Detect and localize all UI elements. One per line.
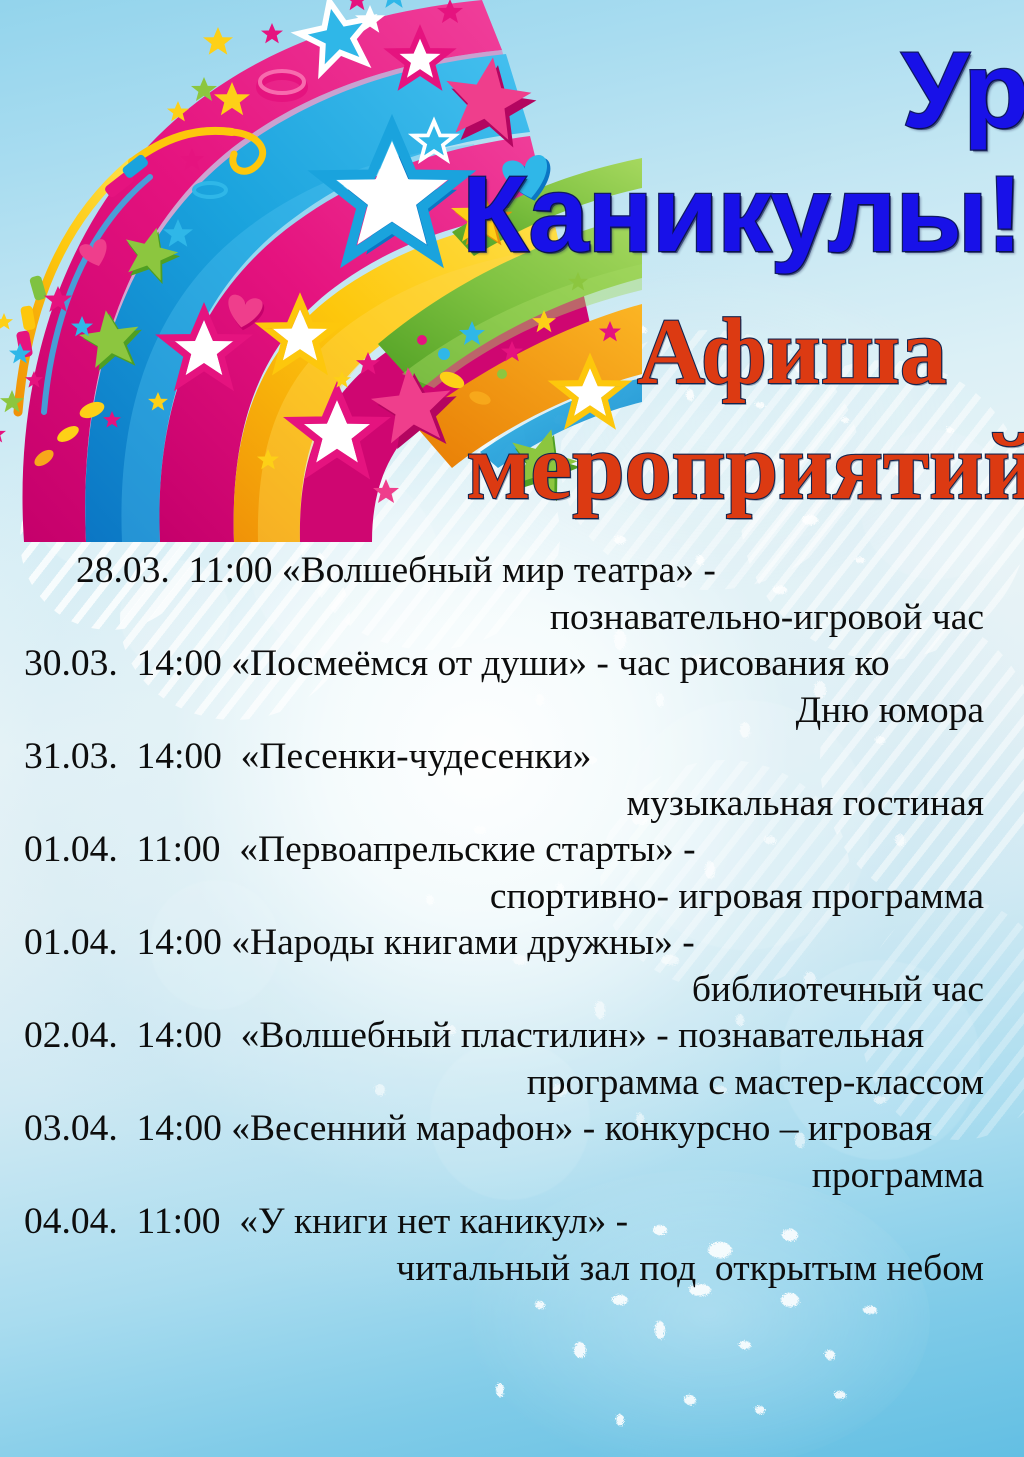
event-primary-line: 03.04. 14:00 «Весенний марафон» - конкур… xyxy=(24,1106,984,1153)
event-continued-line: читальный зал под открытым небом xyxy=(24,1246,984,1293)
title-text-holidays: Каникулы! xyxy=(462,160,1021,268)
event-primary-line: 31.03. 14:00 «Песенки-чудесенки» xyxy=(24,734,984,781)
event-item: 31.03. 14:00 «Песенки-чудесенки» музыкал… xyxy=(24,734,984,827)
event-continued-line: программа с мастер-классом xyxy=(24,1060,984,1107)
event-continued-line: программа xyxy=(24,1153,984,1200)
event-primary-line: 28.03. 11:00 «Волшебный мир театра» - xyxy=(24,548,984,595)
event-item: 02.04. 14:00 «Волшебный пластилин» - поз… xyxy=(24,1013,984,1106)
event-item: 03.04. 14:00 «Весенний марафон» - конкур… xyxy=(24,1106,984,1199)
event-primary-line: 02.04. 14:00 «Волшебный пластилин» - поз… xyxy=(24,1013,984,1060)
event-item: 01.04. 14:00 «Народы книгами дружны» - б… xyxy=(24,920,984,1013)
event-item: 30.03. 14:00 «Посмеёмся от души» - час р… xyxy=(24,641,984,734)
event-item: 04.04. 11:00 «У книги нет каникул» - чит… xyxy=(24,1199,984,1292)
title-text-hooray: Ура! xyxy=(901,36,1024,144)
event-primary-line: 01.04. 14:00 «Народы книгами дружны» - xyxy=(24,920,984,967)
event-schedule-list: 28.03. 11:00 «Волшебный мир театра» - по… xyxy=(24,548,984,1292)
event-item: 28.03. 11:00 «Волшебный мир театра» - по… xyxy=(24,548,984,641)
event-continued-line: Дню юмора xyxy=(24,688,984,735)
event-continued-line: музыкальная гостиная xyxy=(24,781,984,828)
poster-subtitle-line2: мероприятий xyxy=(0,420,1024,514)
event-primary-line: 30.03. 14:00 «Посмеёмся от души» - час р… xyxy=(24,641,984,688)
event-primary-line: 04.04. 11:00 «У книги нет каникул» - xyxy=(24,1199,984,1246)
subtitle-text-afisha: Афиша xyxy=(637,305,947,399)
event-primary-line: 01.04. 11:00 «Первоапрельские старты» - xyxy=(24,827,984,874)
poster-canvas: Ура! Каникулы! Афиша мероприятий 28.03. … xyxy=(0,0,1024,1457)
poster-title-line2: Каникулы! xyxy=(0,160,1024,268)
event-continued-line: библиотечный час xyxy=(24,967,984,1014)
event-continued-line: спортивно- игровая программа xyxy=(24,874,984,921)
poster-title-line1: Ура! xyxy=(0,36,1024,144)
subtitle-text-meropriyatiy: мероприятий xyxy=(467,420,1024,514)
event-item: 01.04. 11:00 «Первоапрельские старты» - … xyxy=(24,827,984,920)
poster-subtitle-line1: Афиша xyxy=(0,305,1024,399)
event-continued-line: познавательно-игровой час xyxy=(24,595,984,642)
